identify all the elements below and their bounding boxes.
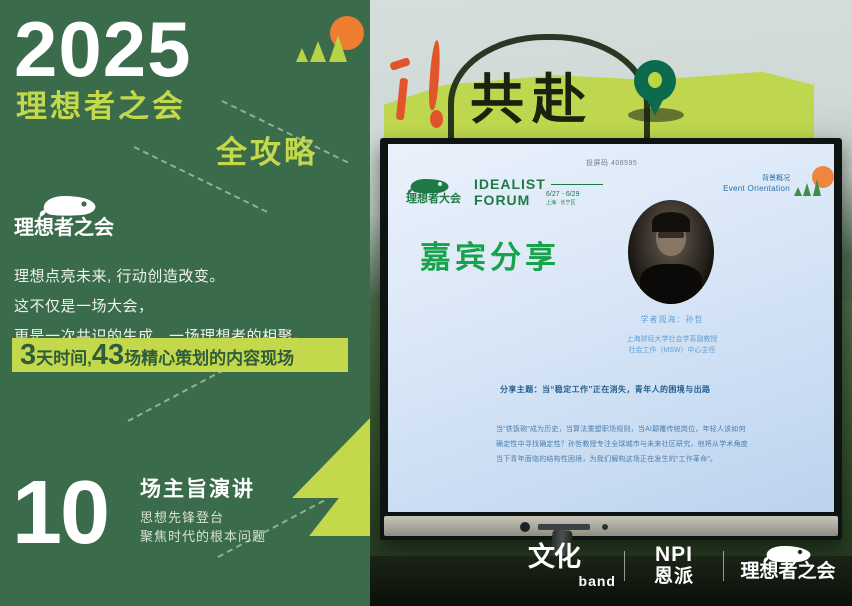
mural-calligraphy: 共赴 bbox=[470, 58, 620, 140]
slide-logo-dates: 6/27 - 6/29 bbox=[546, 190, 579, 199]
stats-band: 3天时间,43场精心策划的内容现场 bbox=[12, 338, 348, 372]
presentation-display: 投屏码 408595 理想者大会 IDEALIST FORUM 6/27 - 6… bbox=[380, 138, 842, 540]
tree-triangle-icon bbox=[794, 187, 802, 196]
whale-icon bbox=[38, 192, 100, 218]
wenhua-band-label: band bbox=[579, 573, 616, 589]
session-topic: 分享主题：当“稳定工作”正在消失，青年人的困境与出路 bbox=[500, 384, 710, 396]
keynote-description: 思想先锋登台 聚焦时代的根本问题 bbox=[140, 508, 266, 546]
slide-logo-venue: 上海 · 长宁区 bbox=[546, 199, 575, 207]
carrot-icon bbox=[430, 110, 443, 128]
speaker-name: 学者观海：孙哲 bbox=[610, 314, 734, 326]
tree-triangle-icon bbox=[813, 179, 821, 196]
arrow-chevron-icon bbox=[292, 418, 370, 536]
tree-sun-decor bbox=[296, 16, 366, 62]
keynote-count: 10 bbox=[12, 468, 108, 558]
poster-stage: 2025 理想者之会 全攻略 理想者之会 理想点亮未来, 行动创造改变。 这不仅… bbox=[0, 0, 852, 606]
lead-line: 理想点亮未来, 行动创造改变。 bbox=[14, 262, 359, 292]
logo-lixiangzhe: 理想者之会 bbox=[724, 543, 852, 589]
keynote-desc-line: 聚焦时代的根本问题 bbox=[140, 527, 266, 546]
speaker-organization: 上海财经大学社会学系副教授 社会工作（MSW）中心主任 bbox=[592, 334, 752, 356]
partner-logos: 文化 band NPI 恩派 理想者之会 bbox=[520, 540, 852, 592]
display-port bbox=[538, 524, 590, 530]
keynote-desc-line: 思想先锋登台 bbox=[140, 508, 266, 527]
location-pin-icon bbox=[634, 60, 676, 116]
section-label-en: Event Orientation bbox=[723, 183, 790, 194]
abstract-line: 确定性中寻找确定性？孙哲教授专注全球城市与未来社区研究，他将从学术角度 bbox=[496, 437, 816, 452]
tree-triangle-icon bbox=[329, 35, 347, 62]
tree-triangle-icon bbox=[803, 183, 811, 196]
brand-logo: 理想者之会 bbox=[14, 192, 124, 248]
event-photo: 共赴 投屏码 408595 理想者大会 IDEALIST bbox=[370, 0, 852, 606]
section-label-cn: 背景概况 bbox=[723, 174, 790, 183]
lixiangzhe-label: 理想者之会 bbox=[728, 560, 848, 584]
left-info-panel: 2025 理想者之会 全攻略 理想者之会 理想点亮未来, 行动创造改变。 这不仅… bbox=[0, 0, 370, 606]
abstract-line: 当下青年面临的结构性困境，为我们解构这场正在发生的“工作革命”。 bbox=[496, 452, 816, 467]
days-number: 3 bbox=[20, 339, 36, 371]
display-indicator bbox=[602, 524, 608, 530]
display-bezel-bottom bbox=[384, 516, 838, 536]
camera-icon bbox=[520, 522, 530, 532]
slide-brand-logo: 理想者大会 IDEALIST FORUM 6/27 - 6/29 上海 · 长宁… bbox=[406, 176, 606, 212]
logo-rule bbox=[551, 184, 603, 185]
npi-cn-label: 恩派 bbox=[632, 566, 716, 588]
speaker-org-line: 社会工作（MSW）中心主任 bbox=[592, 345, 752, 356]
event-title: 理想者之会 bbox=[16, 90, 186, 124]
logo-wenhua-band: 文化 band bbox=[520, 543, 624, 589]
logo-npi: NPI 恩派 bbox=[625, 543, 723, 589]
speaker-portrait bbox=[628, 200, 714, 304]
tree-triangle-icon bbox=[310, 41, 326, 62]
brand-name: 理想者之会 bbox=[14, 216, 114, 240]
slide-section-label: 背景概况 Event Orientation bbox=[723, 174, 790, 194]
days-unit: 天时间, bbox=[36, 349, 92, 368]
slide-content: 投屏码 408595 理想者大会 IDEALIST FORUM 6/27 - 6… bbox=[388, 144, 834, 512]
lead-line: 这不仅是一场大会， bbox=[14, 292, 359, 322]
abstract-line: 当“铁饭碗”成为历史，当算法重塑职场规则，当AI颠覆传统岗位，年轻人该如何 bbox=[496, 422, 816, 437]
slide-logo-en1: IDEALIST bbox=[474, 176, 546, 192]
sessions-number: 43 bbox=[92, 339, 124, 371]
keynote-title: 场主旨演讲 bbox=[140, 478, 255, 502]
tree-triangle-icon bbox=[296, 48, 308, 62]
cast-code-label: 投屏码 408595 bbox=[586, 158, 637, 168]
session-abstract: 当“铁饭碗”成为历史，当算法重塑职场规则，当AI颠覆传统岗位，年轻人该如何 确定… bbox=[496, 422, 816, 467]
slide-logo-en2: FORUM bbox=[474, 192, 530, 208]
tree-group-decor bbox=[794, 178, 824, 196]
year-heading: 2025 bbox=[14, 10, 192, 88]
slide-logo-cn: 理想者大会 bbox=[406, 192, 461, 206]
slide-heading: 嘉宾分享 bbox=[420, 240, 560, 276]
speaker-org-line: 上海财经大学社会学系副教授 bbox=[592, 334, 752, 345]
wenhua-glyph: 文化 bbox=[528, 543, 580, 573]
sessions-text: 场精心策划的内容现场 bbox=[124, 349, 294, 368]
npi-en-label: NPI bbox=[632, 543, 716, 566]
